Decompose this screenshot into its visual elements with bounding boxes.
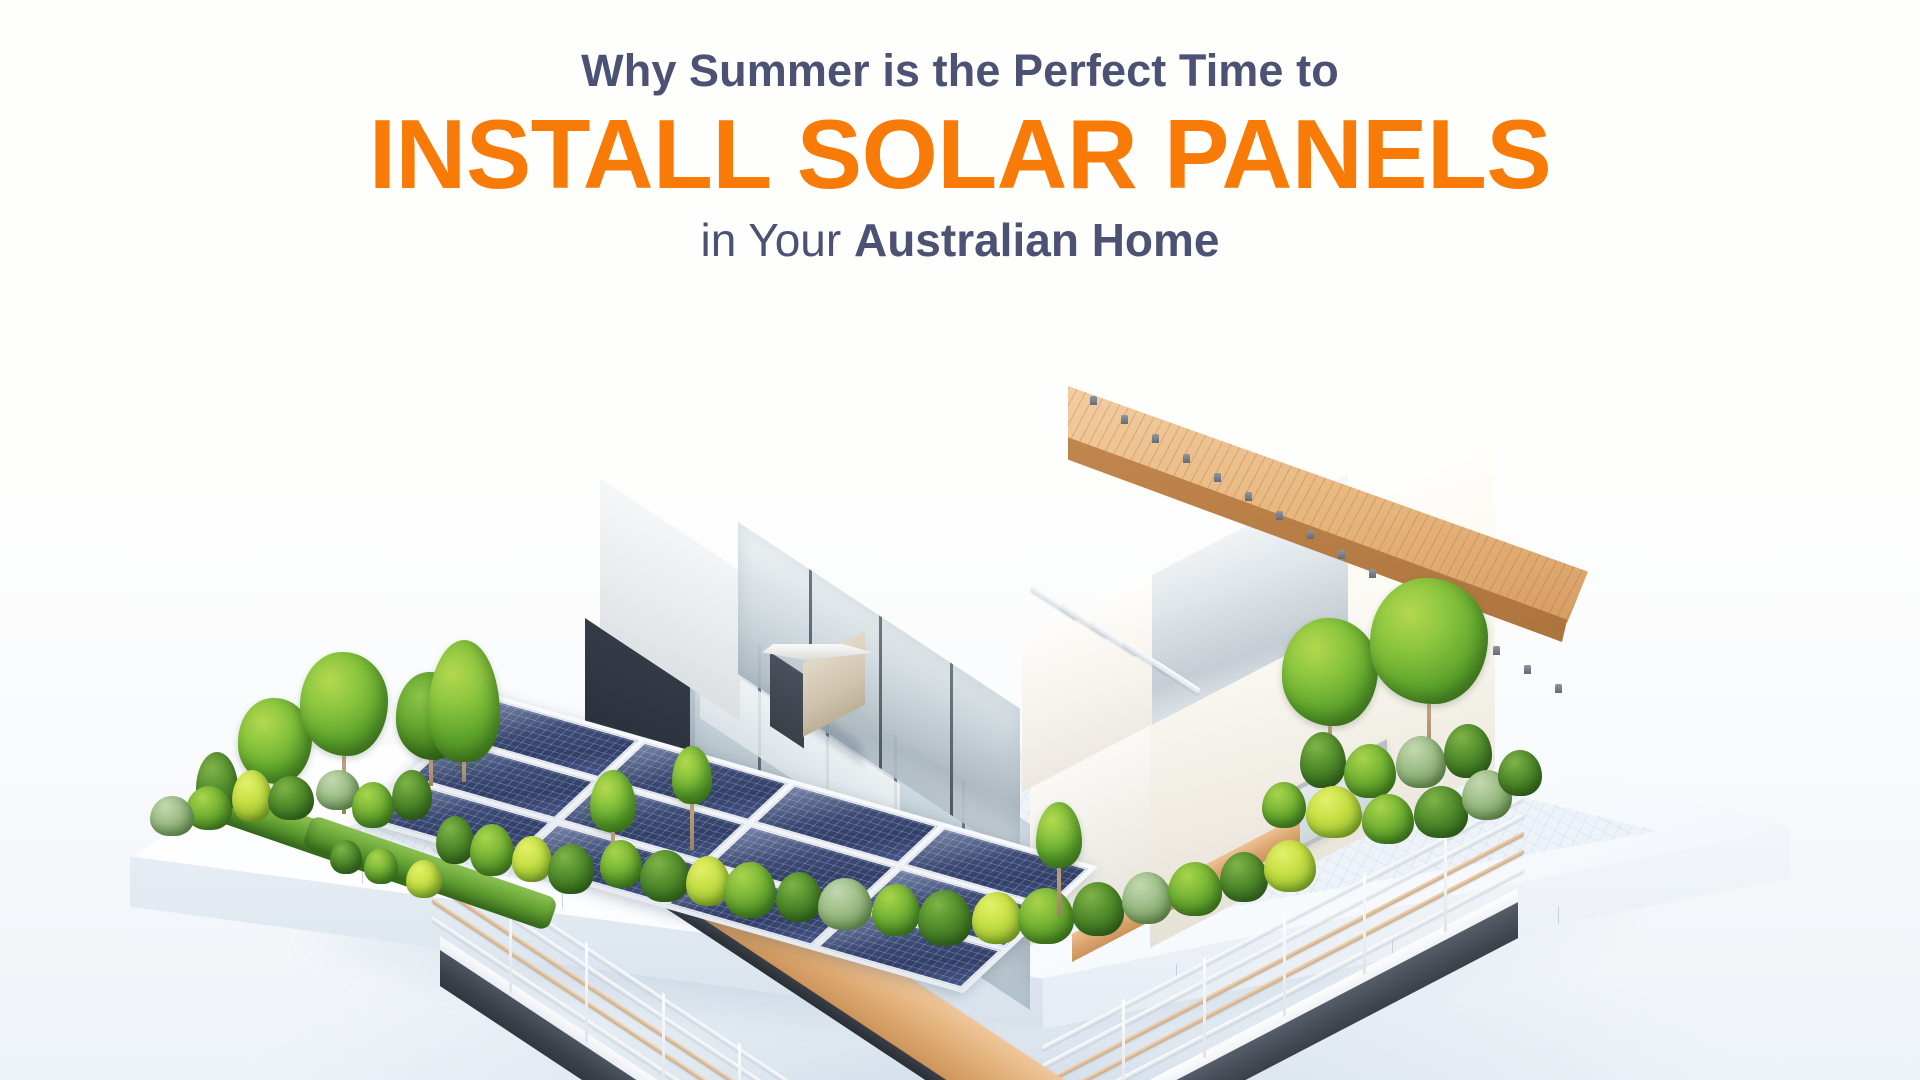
shrub — [972, 892, 1022, 944]
tree — [1282, 618, 1378, 752]
shrub — [818, 878, 872, 930]
tree — [672, 746, 712, 850]
tree-crown — [1036, 802, 1082, 868]
headline-line-1: Why Summer is the Perfect Time to — [0, 46, 1920, 96]
garden-bed — [0, 300, 1920, 1080]
shrub — [776, 872, 822, 922]
tree — [428, 640, 500, 782]
tree-trunk — [690, 804, 694, 850]
tree-crown — [1370, 578, 1488, 704]
tree-crown — [590, 770, 636, 832]
tree-crown — [428, 640, 500, 762]
shrub — [1072, 882, 1124, 936]
shrub — [406, 860, 442, 898]
shrub — [232, 770, 272, 822]
shrub — [724, 862, 776, 918]
tree-crown — [672, 746, 712, 804]
shrub — [512, 836, 552, 882]
tree-trunk — [462, 762, 466, 782]
shrub — [1498, 750, 1542, 796]
shrub — [1414, 786, 1468, 838]
shrub — [352, 782, 394, 828]
shrub — [1122, 872, 1172, 924]
shrub — [150, 796, 194, 836]
tree-crown — [1282, 618, 1378, 726]
shrub — [392, 770, 432, 820]
shrub — [1306, 786, 1362, 838]
shrub — [1168, 862, 1222, 916]
headline-line-3-prefix: in Your — [700, 214, 853, 266]
shrub — [470, 824, 514, 876]
shrub — [1362, 794, 1414, 844]
shrub — [640, 850, 690, 902]
shrub — [268, 776, 314, 820]
shrub — [1264, 840, 1316, 892]
headline-block: Why Summer is the Perfect Time to INSTAL… — [0, 46, 1920, 267]
shrub — [872, 884, 920, 936]
shrub — [1220, 852, 1268, 902]
shrub — [1262, 782, 1306, 828]
solar-banner: Why Summer is the Perfect Time to INSTAL… — [0, 0, 1920, 1080]
shrub — [918, 890, 972, 946]
shrub — [600, 840, 642, 888]
shrub — [436, 816, 474, 864]
headline-line-3: in Your Australian Home — [0, 214, 1920, 266]
headline-line-3-emphasis: Australian Home — [854, 214, 1220, 266]
shrub — [364, 848, 398, 884]
shrub — [1344, 744, 1396, 798]
house-illustration — [0, 300, 1920, 1080]
tree-trunk — [1057, 868, 1061, 916]
headline-line-2-accent: INSTALL SOLAR PANELS — [0, 102, 1920, 208]
shrub — [330, 840, 362, 874]
shrub — [548, 844, 594, 894]
tree-crown — [300, 652, 388, 756]
shrub — [1300, 732, 1346, 788]
shrub — [1396, 736, 1446, 788]
